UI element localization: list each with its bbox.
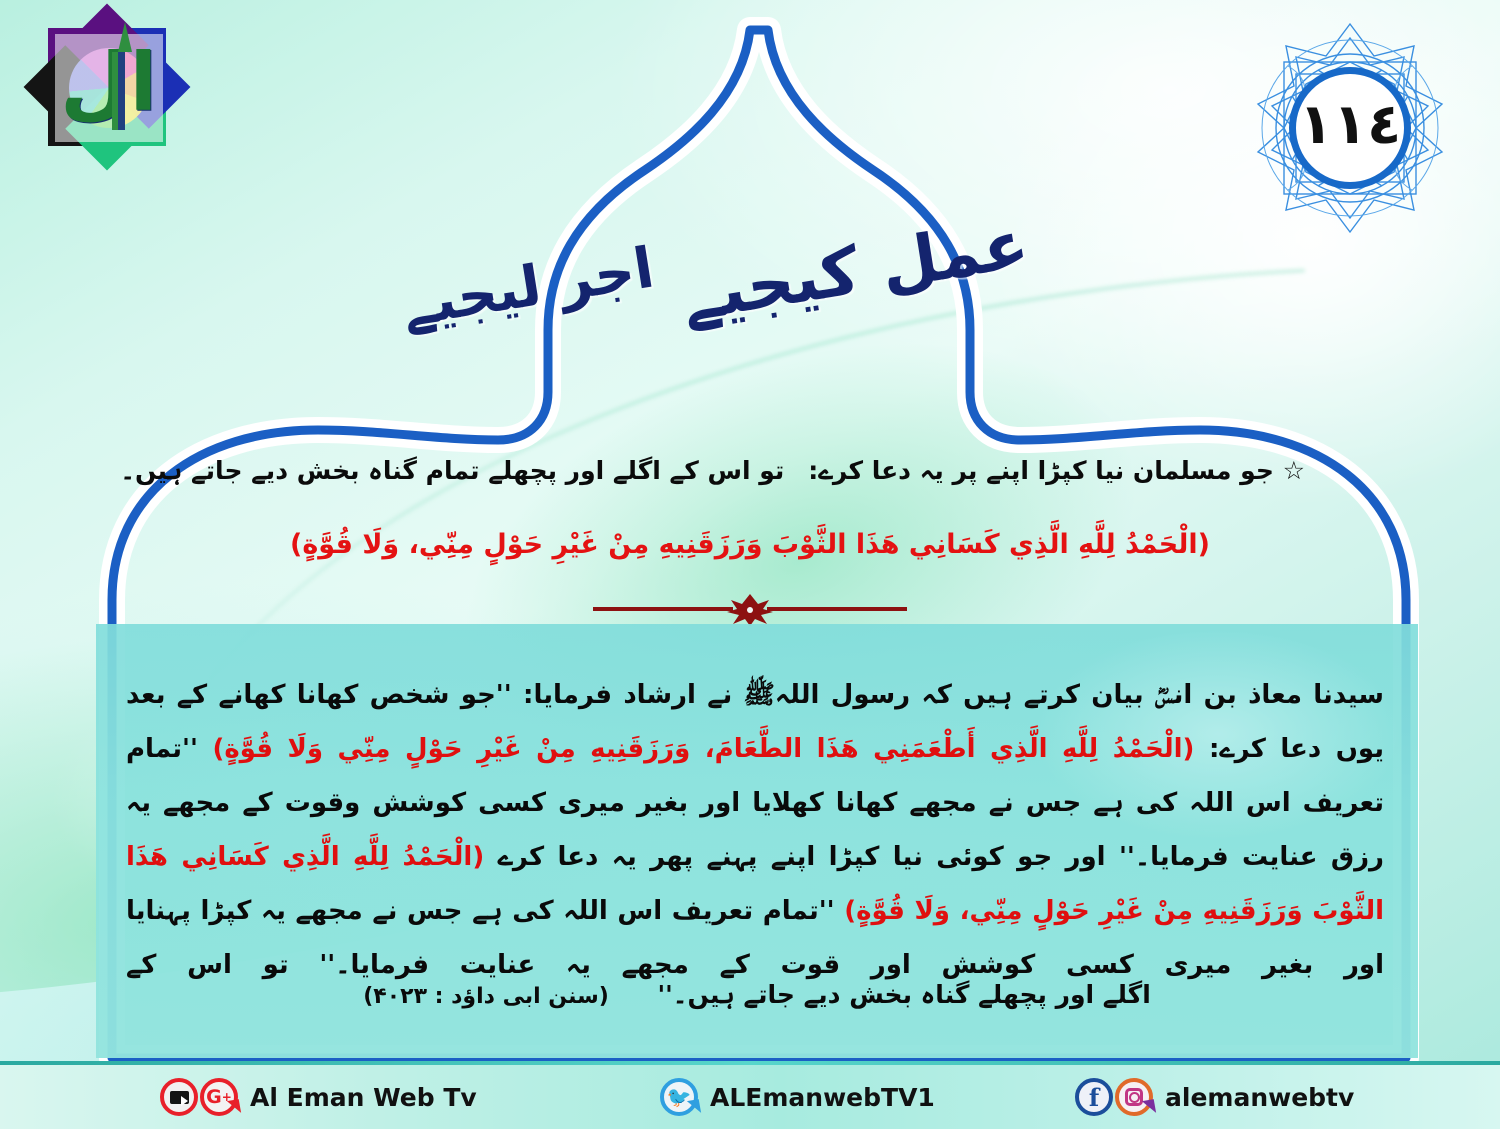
page-number-text: ١١٤ [1299,97,1402,153]
headline-row: ☆ جو مسلمان نیا کپڑا اپنے پر یہ دعا کرے:… [195,452,1305,490]
al-eman-logo: ال [22,8,192,183]
logo-pen-body-icon [112,52,125,130]
poster-canvas: ال ١١٤ [0,0,1500,1129]
googleplus-icon[interactable]: G+ [200,1078,238,1116]
instagram-icon[interactable] [1115,1078,1153,1116]
body-paragraph: سیدنا معاذ بن انسؓ بیان کرتے ہیں کہ رسول… [126,668,1384,992]
speech-tail-icon-blue [687,1099,701,1115]
social-footer: G+ Al Eman Web Tv 🐦 ALEmanwebTV1 f [0,1061,1500,1129]
footer-item-youtube[interactable]: G+ Al Eman Web Tv [160,1078,477,1116]
footer-label-1: Al Eman Web Tv [250,1083,477,1112]
footer-item-twitter[interactable]: 🐦 ALEmanwebTV1 [660,1078,935,1116]
footer-icons-group-3: f [1075,1078,1153,1116]
footer-icons-group-2: 🐦 [660,1078,698,1116]
footer-label-2: ALEmanwebTV1 [710,1083,935,1112]
logo-arabic-glyph: ال [62,30,157,142]
citation-row: اگلے اور پچھلے گناہ بخش دیے جاتے ہیں۔'' … [96,980,1418,1009]
youtube-icon[interactable] [160,1078,198,1116]
twitter-icon[interactable]: 🐦 [660,1078,698,1116]
headline-right-text: ☆ جو مسلمان نیا کپڑا اپنے پر یہ دعا کرے: [808,452,1305,490]
citation-text: اگلے اور پچھلے گناہ بخش دیے جاتے ہیں۔'' [657,980,1150,1009]
speech-tail-icon [227,1099,241,1115]
page-number-badge: ١١٤ [1240,18,1460,238]
citation-source: (سنن ابی داؤد : ۴۰۲۳) [363,984,609,1009]
logo-pen-nib-icon [118,22,132,52]
dua-arabic-top: (الْحَمْدُ لِلَّهِ الَّذِي كَسَانِي هَذَ… [230,525,1270,564]
ornamental-divider-icon [585,592,915,626]
footer-icons-group-1: G+ [160,1078,238,1116]
page-number-circle: ١١٤ [1289,67,1411,189]
instagram-camera-glyph [1125,1088,1143,1106]
footer-label-3: alemanwebtv [1165,1083,1354,1112]
title-sub: اجر لیجیے [398,236,659,340]
headline-left-text: تو اس کے اگلے اور پچھلے تمام گناہ بخش دی… [120,452,784,490]
speech-tail-icon-purple [1142,1099,1156,1115]
body-arabic-1: (الْحَمْدُ لِلَّهِ الَّذِي أَطْعَمَنِي ه… [212,734,1194,764]
facebook-icon[interactable]: f [1075,1078,1113,1116]
title-main: عمل کیجیے [676,205,1033,336]
footer-item-facebook-instagram[interactable]: f alemanwebtv [1075,1078,1354,1116]
